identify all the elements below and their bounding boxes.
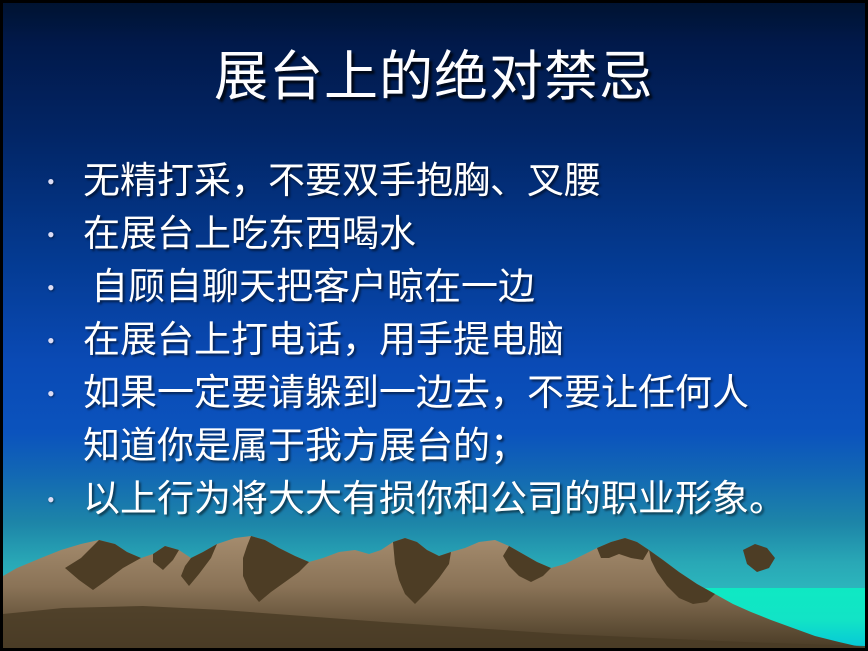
list-item: • 在展台上打电话，用手提电脑 <box>47 314 837 367</box>
bullet-point-icon: • <box>47 473 83 526</box>
bullet-point-icon: • <box>47 367 83 420</box>
list-item-text: 在展台上吃东西喝水 <box>83 208 837 261</box>
mountain-range-graphic <box>3 528 865 648</box>
bullet-point-icon: • <box>47 208 83 261</box>
list-item: • 无精打采，不要双手抱胸、叉腰 <box>47 155 837 208</box>
bullet-point-icon: • <box>47 261 83 314</box>
slide-canvas: 展台上的绝对禁忌 • 无精打采，不要双手抱胸、叉腰 • 在展台上吃东西喝水 • … <box>3 3 865 648</box>
list-item-text-line2: 知道你是属于我方展台的； <box>83 420 837 473</box>
presentation-slide: 展台上的绝对禁忌 • 无精打采，不要双手抱胸、叉腰 • 在展台上吃东西喝水 • … <box>0 0 868 651</box>
list-item-text-line1: 如果一定要请躲到一边去，不要让任何人 <box>83 373 749 414</box>
list-item-text: 在展台上打电话，用手提电脑 <box>83 314 837 367</box>
slide-title: 展台上的绝对禁忌 <box>3 45 865 109</box>
list-item: • 在展台上吃东西喝水 <box>47 208 837 261</box>
list-item-text: 以上行为将大大有损你和公司的职业形象。 <box>83 473 837 526</box>
list-item-text: 无精打采，不要双手抱胸、叉腰 <box>83 155 837 208</box>
list-item: • 自顾自聊天把客户晾在一边 <box>47 261 837 314</box>
bullet-list: • 无精打采，不要双手抱胸、叉腰 • 在展台上吃东西喝水 • 自顾自聊天把客户晾… <box>47 155 837 526</box>
list-item: • 如果一定要请躲到一边去，不要让任何人 知道你是属于我方展台的； <box>47 367 837 473</box>
list-item-text: 如果一定要请躲到一边去，不要让任何人 知道你是属于我方展台的； <box>83 367 837 473</box>
list-item-text: 自顾自聊天把客户晾在一边 <box>83 261 837 314</box>
bullet-point-icon: • <box>47 314 83 367</box>
list-item: • 以上行为将大大有损你和公司的职业形象。 <box>47 473 837 526</box>
bullet-point-icon: • <box>47 155 83 208</box>
